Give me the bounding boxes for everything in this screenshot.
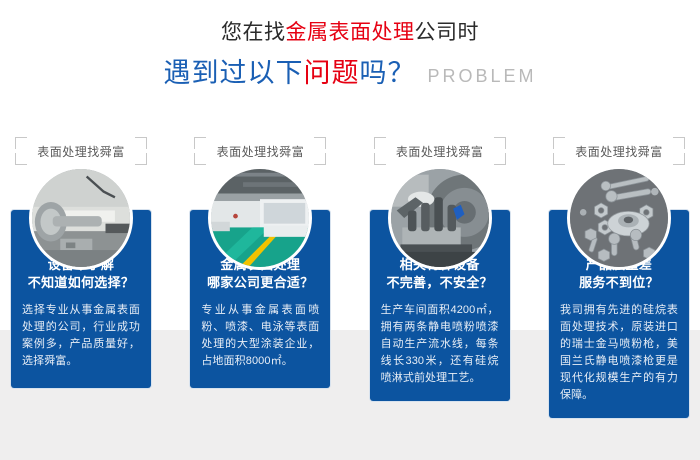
headline-line2-part2: 下 [275, 58, 303, 88]
card-4-description: 我司拥有先进的硅烷表面处理技术，原装进口的瑞士金马喷粉枪，美国兰氏静电喷漆枪更是… [549, 302, 689, 404]
problem-card-1[interactable]: 表面处理找舜富 [11, 136, 151, 418]
corner-bracket-bottom-left-icon [374, 153, 386, 165]
headline-line1-suffix: 公司时 [415, 21, 480, 44]
corner-bracket-bottom-left-icon [15, 153, 27, 165]
headline-line1-prefix: 您在找 [221, 21, 286, 44]
card-1-description: 选择专业从事金属表面处理的公司，行业成功案例多，产品质量好，选择舜富。 [11, 302, 151, 370]
headline-english-subtitle: PROBLEM [427, 66, 536, 86]
card-3-description: 生产车间面积4200㎡，拥有两条静电喷粉喷漆自动生产流水线，每条线长330米，还… [370, 302, 510, 387]
problem-card-3[interactable]: 表面处理找舜富 [370, 136, 510, 418]
problem-cards-row: 表面处理找舜富 [11, 136, 689, 418]
headline-line-2: 遇到过以下问题吗？PROBLEM [0, 56, 700, 95]
card-2-title-line-2: 哪家公司更合适？ [194, 274, 326, 292]
corner-bracket-bottom-right-icon [135, 153, 147, 165]
lathe-machining-photo [29, 166, 133, 270]
headline-line2-highlight: 问题 [303, 58, 359, 88]
headline-line2-part3: 吗？ [359, 58, 415, 88]
card-3-label-frame: 表面处理找舜富 [374, 136, 506, 166]
corner-bracket-top-left-icon [374, 137, 386, 149]
corner-bracket-bottom-left-icon [194, 153, 206, 165]
corner-bracket-top-right-icon [673, 137, 685, 149]
card-3-title-line-2: 不完善，不安全？ [374, 274, 506, 292]
corner-bracket-top-right-icon [314, 137, 326, 149]
corner-bracket-bottom-right-icon [494, 153, 506, 165]
corner-bracket-top-right-icon [494, 137, 506, 149]
corner-bracket-bottom-right-icon [673, 153, 685, 165]
corner-bracket-bottom-left-icon [553, 153, 565, 165]
problem-card-4[interactable]: 表面处理找舜富 [549, 136, 689, 418]
headline-line2-part1: 遇到过以 [163, 58, 275, 88]
corner-bracket-top-right-icon [135, 137, 147, 149]
card-1-body: 设备不了解 不知道如何选择？ 选择专业从事金属表面处理的公司，行业成功案例多，产… [11, 210, 151, 388]
headline-line1-highlight: 金属表面处理 [286, 21, 415, 44]
page-headline: 您在找金属表面处理公司时 遇到过以下问题吗？PROBLEM [0, 18, 700, 95]
card-4-body: 产品质量差 服务不到位？ 我司拥有先进的硅烷表面处理技术，原装进口的瑞士金马喷粉… [549, 210, 689, 418]
problem-card-2[interactable]: 表面处理找舜富 [190, 136, 330, 418]
card-3-label-text: 表面处理找舜富 [396, 143, 484, 160]
card-4-label-text: 表面处理找舜富 [575, 143, 663, 160]
card-4-label-frame: 表面处理找舜富 [553, 136, 685, 166]
corner-bracket-top-left-icon [15, 137, 27, 149]
corner-bracket-top-left-icon [553, 137, 565, 149]
headline-line-1: 您在找金属表面处理公司时 [0, 18, 700, 48]
card-1-label-frame: 表面处理找舜富 [15, 136, 147, 166]
special-equipment-photo [388, 166, 492, 270]
corner-bracket-bottom-right-icon [314, 153, 326, 165]
card-2-label-frame: 表面处理找舜富 [194, 136, 326, 166]
card-2-description: 专业从事金属表面喷粉、喷漆、电泳等表面处理的大型涂装企业，占地面积8000㎡。 [190, 302, 330, 370]
corner-bracket-top-left-icon [194, 137, 206, 149]
fasteners-products-photo [567, 166, 671, 270]
card-1-label-text: 表面处理找舜富 [37, 143, 125, 160]
card-1-title-line-2: 不知道如何选择？ [15, 274, 147, 292]
card-3-body: 相关特种设备 不完善，不安全？ 生产车间面积4200㎡，拥有两条静电喷粉喷漆自动… [370, 210, 510, 401]
factory-workshop-photo [208, 166, 312, 270]
card-4-title-line-2: 服务不到位？ [553, 274, 685, 292]
card-2-label-text: 表面处理找舜富 [217, 143, 305, 160]
card-2-body: 金属表面处理 哪家公司更合适？ 专业从事金属表面喷粉、喷漆、电泳等表面处理的大型… [190, 210, 330, 388]
